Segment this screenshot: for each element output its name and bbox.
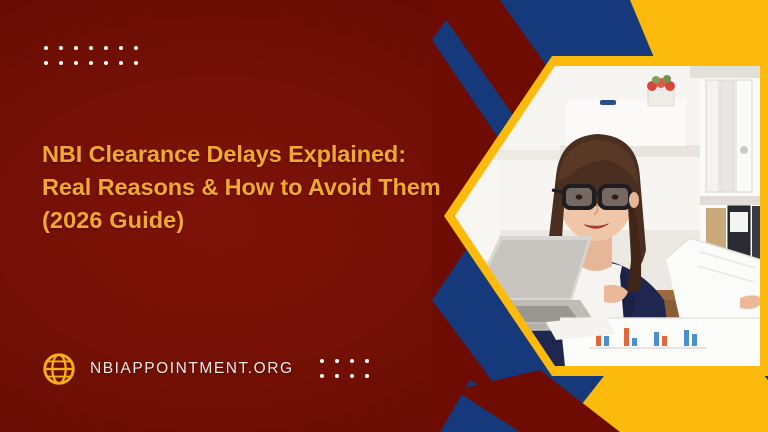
headline-line-3: (2026 Guide) [42, 204, 442, 237]
dot [44, 46, 48, 50]
dot [320, 374, 324, 378]
dot [119, 61, 123, 65]
dot [119, 46, 123, 50]
dot [44, 61, 48, 65]
brand-name: NBIAPPOINTMENT.ORG [90, 360, 294, 378]
dot [350, 359, 354, 363]
dot [365, 359, 369, 363]
dot [59, 61, 63, 65]
dot [134, 61, 138, 65]
dot [320, 359, 324, 363]
dot [350, 374, 354, 378]
headline-line-1: NBI Clearance Delays Explained: [42, 138, 442, 171]
dot [365, 374, 369, 378]
dot [335, 374, 339, 378]
dot-grid-top-left [44, 46, 149, 76]
featured-image-banner: NBI Clearance Delays Explained: Real Rea… [0, 0, 768, 432]
dot [74, 46, 78, 50]
brand-lockup[interactable]: NBIAPPOINTMENT.ORG [40, 350, 294, 388]
dot [104, 46, 108, 50]
dot [335, 359, 339, 363]
dot-grid-bottom [320, 359, 380, 389]
dot [104, 61, 108, 65]
page-title: NBI Clearance Delays Explained: Real Rea… [42, 138, 442, 237]
globe-icon [40, 350, 78, 388]
dot [59, 46, 63, 50]
headline-line-2: Real Reasons & How to Avoid Them [42, 171, 442, 204]
dot [74, 61, 78, 65]
dot [134, 46, 138, 50]
dot [89, 61, 93, 65]
dot [89, 46, 93, 50]
